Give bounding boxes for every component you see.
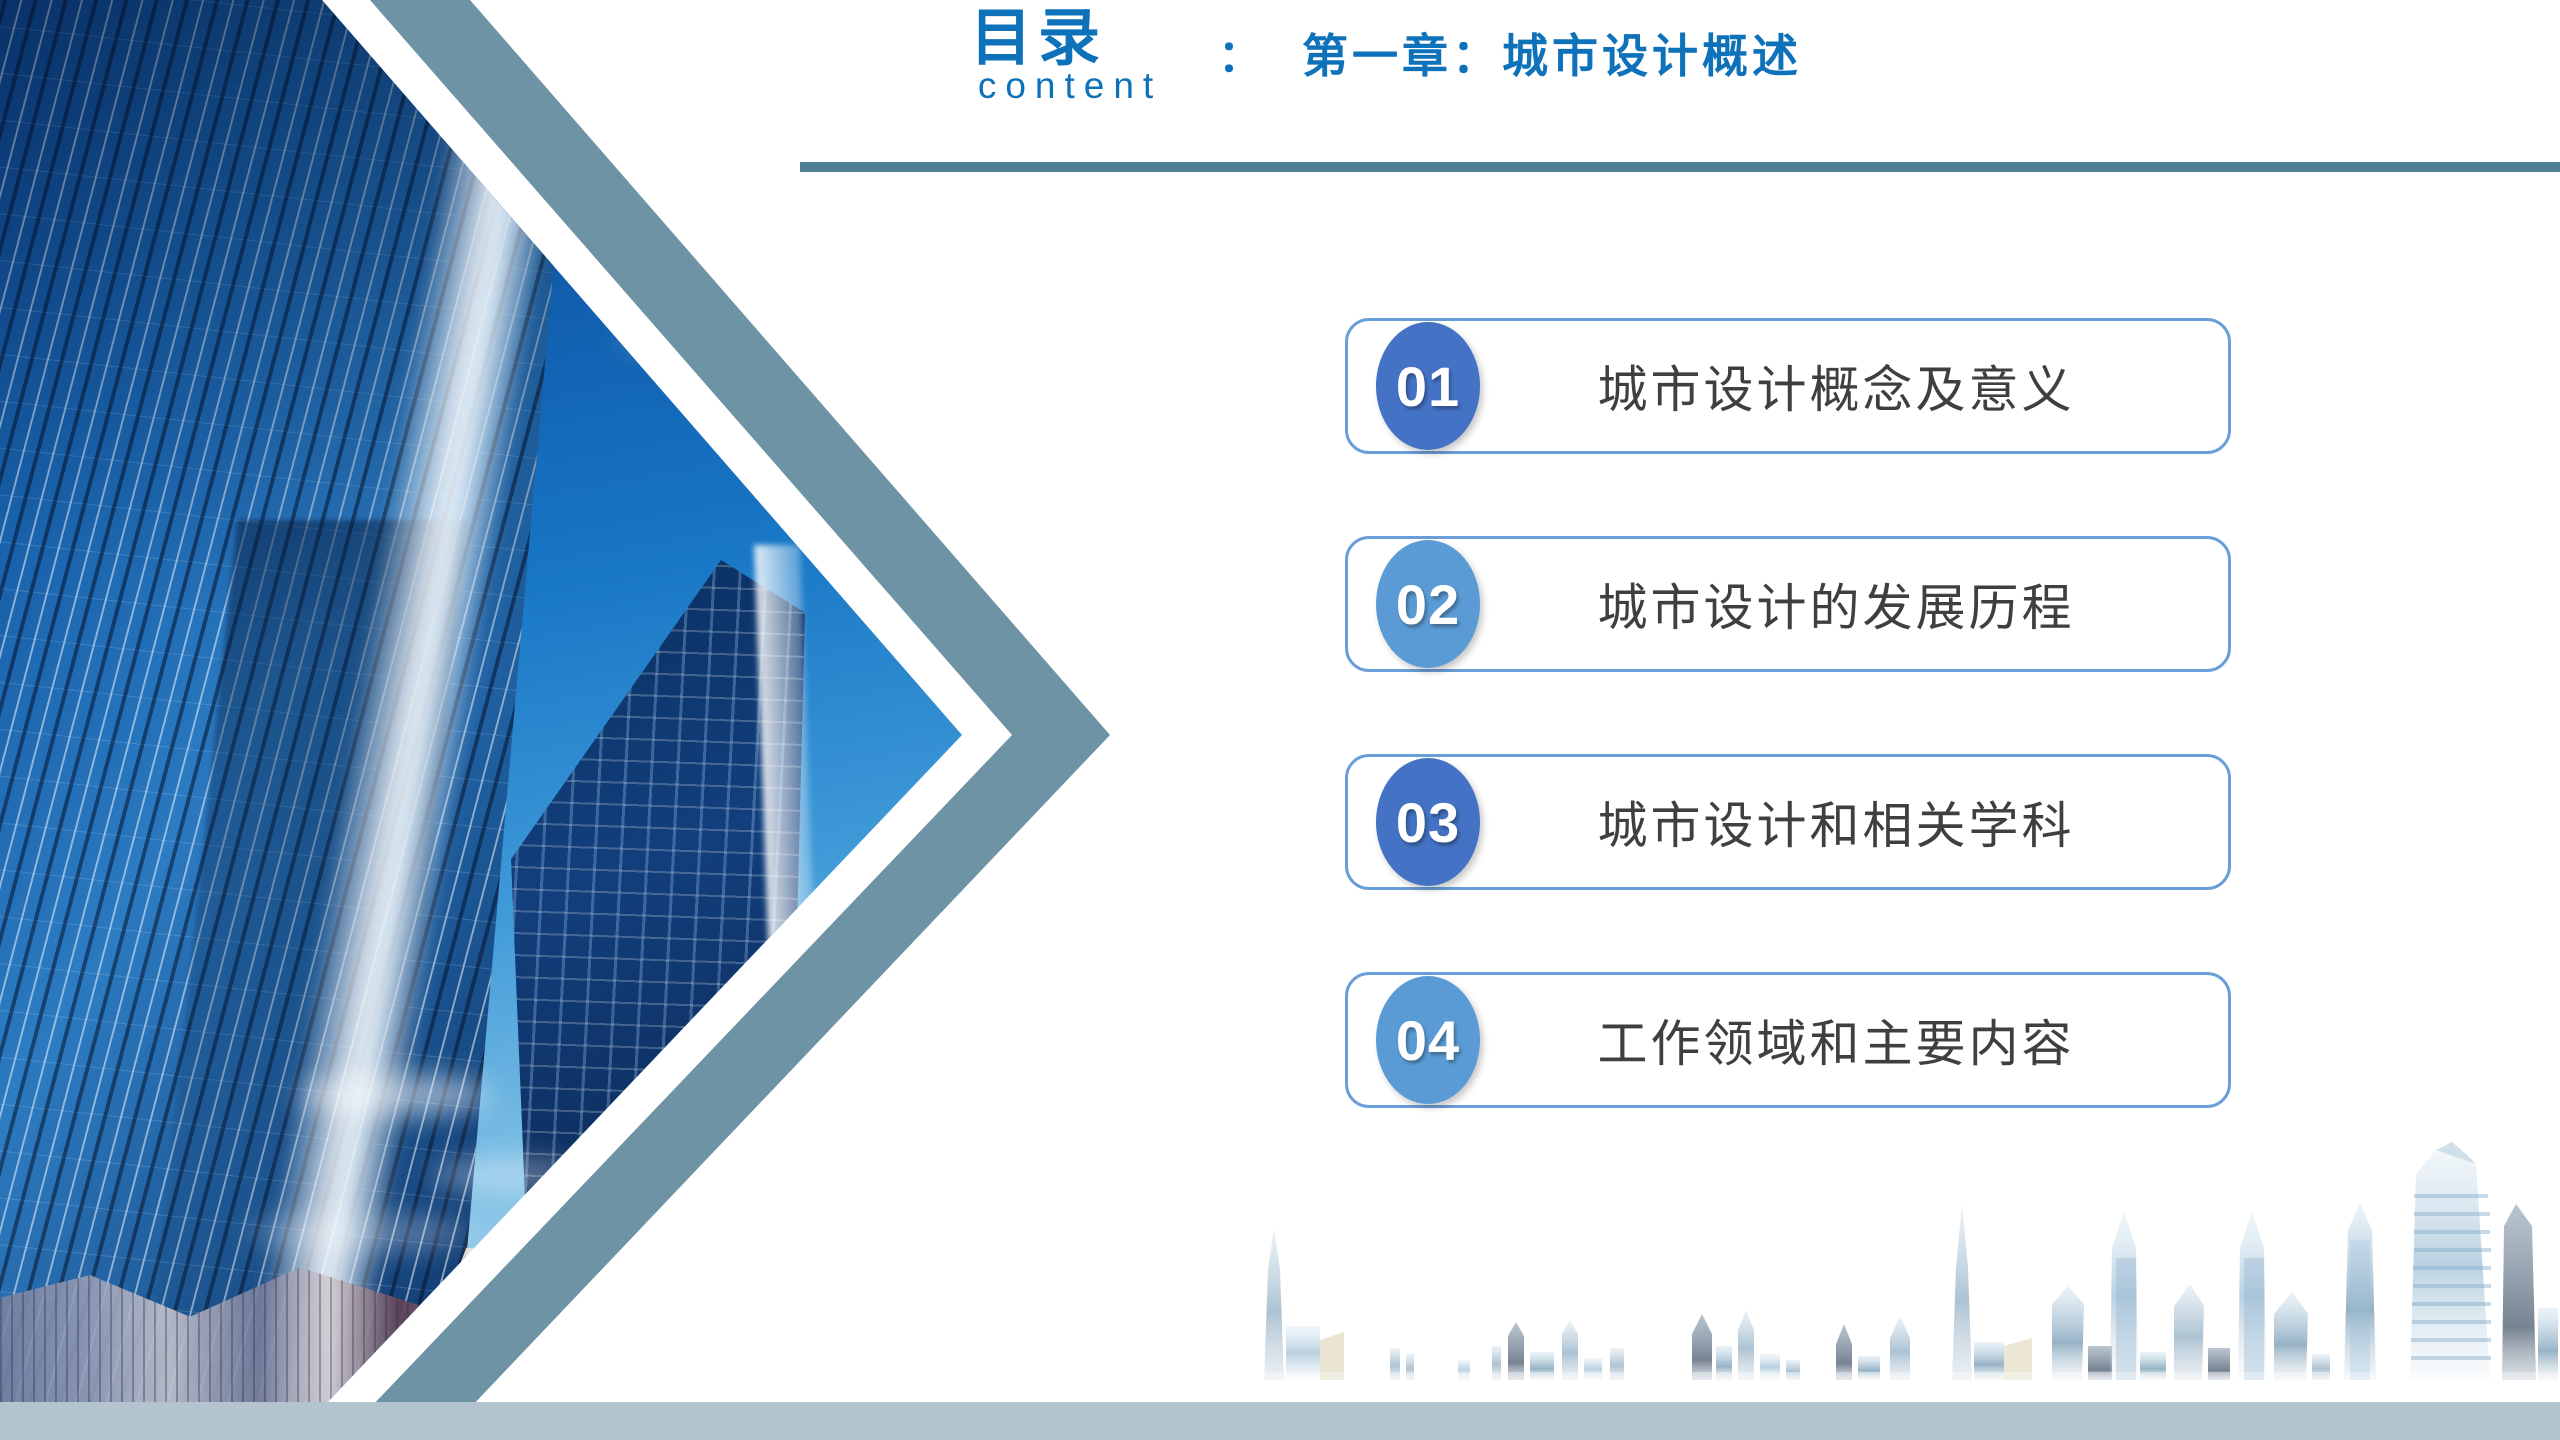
title-separator: ： bbox=[1218, 20, 1262, 84]
toc-number-03: 03 bbox=[1396, 790, 1460, 855]
chapter-title: 第一章：城市设计概述 bbox=[1302, 20, 1802, 86]
toc-item-01[interactable]: 01 城市设计概念及意义 bbox=[1345, 318, 2231, 454]
cloud-icon bbox=[250, 1215, 470, 1251]
toc-label-01: 城市设计概念及意义 bbox=[1348, 350, 2228, 422]
toc-number-01: 01 bbox=[1396, 354, 1460, 419]
slide-header: 目录 content ： 第一章：城市设计概述 bbox=[970, 0, 2560, 160]
toc-number-badge-02: 02 bbox=[1376, 540, 1480, 668]
toc-number-02: 02 bbox=[1396, 572, 1460, 637]
city-skyline-silhouette bbox=[1240, 1108, 2560, 1408]
page-title: 目录 bbox=[970, 6, 1170, 71]
page-title-english: content bbox=[970, 67, 1170, 104]
cloud-icon bbox=[300, 1075, 490, 1115]
header-divider bbox=[800, 162, 2560, 172]
toc-number-badge-03: 03 bbox=[1376, 758, 1480, 886]
toc-item-03[interactable]: 03 城市设计和相关学科 bbox=[1345, 754, 2231, 890]
toc-label-03: 城市设计和相关学科 bbox=[1348, 786, 2228, 858]
toc-label-04: 工作领域和主要内容 bbox=[1348, 1004, 2228, 1076]
left-artwork bbox=[0, 0, 1160, 1408]
toc-item-04[interactable]: 04 工作领域和主要内容 bbox=[1345, 972, 2231, 1108]
toc-label-02: 城市设计的发展历程 bbox=[1348, 568, 2228, 640]
toc-item-02[interactable]: 02 城市设计的发展历程 bbox=[1345, 536, 2231, 672]
toc-number-badge-01: 01 bbox=[1376, 322, 1480, 450]
skyline-svg bbox=[1240, 1108, 2560, 1408]
presentation-slide: 目录 content ： 第一章：城市设计概述 01 城市设计概念及意义 02 … bbox=[0, 0, 2560, 1440]
toc-number-badge-04: 04 bbox=[1376, 976, 1480, 1104]
footer-bar bbox=[0, 1402, 2560, 1440]
toc-number-04: 04 bbox=[1396, 1008, 1460, 1073]
toc-title-group: 目录 content bbox=[970, 6, 1170, 104]
table-of-contents-list: 01 城市设计概念及意义 02 城市设计的发展历程 03 城市设计和相关学科 0… bbox=[1345, 318, 2231, 1190]
